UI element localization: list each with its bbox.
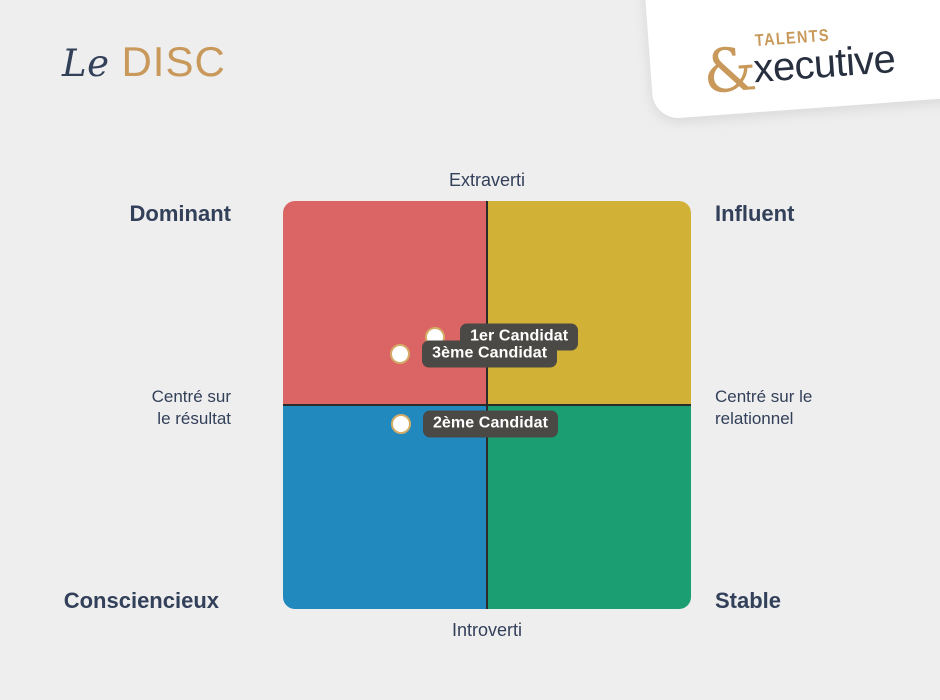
page-title-main: DISC <box>121 38 225 86</box>
quadrant-label-stable: Stable <box>691 588 781 614</box>
axis-caption-right: Centré sur le relationnel <box>691 386 812 430</box>
disc-quadrant-chart: 1er Candidat2ème Candidat3ème Candidat <box>283 201 691 609</box>
candidate-marker[interactable] <box>391 414 411 434</box>
quadrant-label-influent: Influent <box>691 201 794 227</box>
page-title-script: Le <box>62 42 109 85</box>
axis-caption-bottom: Introverti <box>283 620 691 641</box>
quadrant-label-consciencieux: Consciencieux <box>64 588 249 614</box>
axis-caption-right-line2: relationnel <box>715 408 812 430</box>
quadrant-influent[interactable] <box>487 201 691 405</box>
candidate-label: 3ème Candidat <box>422 341 557 368</box>
logo-text-block: TALENTS xecutive <box>754 22 896 88</box>
page-title: Le DISC <box>62 38 226 86</box>
ampersand-icon: & <box>701 45 758 98</box>
axis-caption-left: Centré sur le résultat <box>152 386 249 430</box>
axis-caption-left-line2: le résultat <box>152 408 231 430</box>
horizontal-axis-line <box>283 404 691 406</box>
axis-caption-right-line1: Centré sur le <box>715 386 812 408</box>
axis-caption-left-line1: Centré sur <box>152 386 231 408</box>
candidate-marker[interactable] <box>390 344 410 364</box>
quadrant-label-dominant: Dominant <box>130 201 249 227</box>
quadrant-dominant[interactable] <box>283 201 487 405</box>
axis-caption-top: Extraverti <box>283 170 691 191</box>
candidate-label: 2ème Candidat <box>423 411 558 438</box>
